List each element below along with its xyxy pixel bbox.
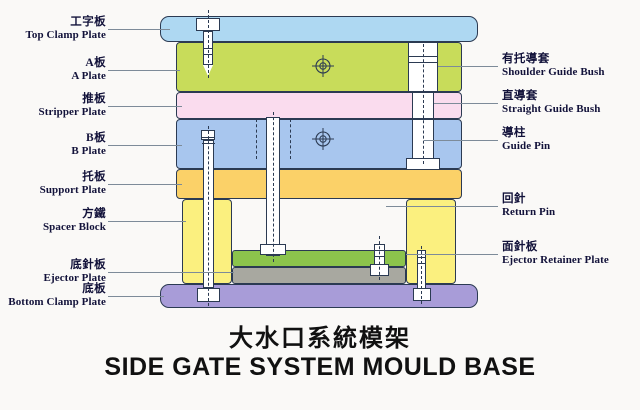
label-top-clamp-plate: 工字板 Top Clamp Plate [25,16,106,41]
label-guide-pin: 導柱 Guide Pin [502,127,550,152]
label-straight-guide-bush-cn: 直導套 [502,90,600,103]
datum-mark-b-plate [312,128,334,150]
label-b-plate-cn: B板 [71,132,106,145]
label-support-plate-cn: 托板 [40,171,106,184]
label-top-clamp-plate-cn: 工字板 [25,16,106,29]
label-a-plate-cn: A板 [71,57,106,70]
label-return-pin: 回針 Return Pin [502,193,555,218]
leader-ejector-plate [108,272,234,273]
leader-straight-guide-bush [434,103,498,104]
label-support-plate-en: Support Plate [40,184,106,196]
label-straight-guide-bush-en: Straight Guide Bush [502,103,600,115]
label-spacer-block-cn: 方鐵 [43,208,106,221]
label-ejector-retainer-plate-cn: 面針板 [502,241,609,254]
label-stripper-plate: 推板 Stripper Plate [39,93,107,118]
part-support-plate [176,169,462,199]
leader-spacer-block [108,221,186,222]
label-support-plate: 托板 Support Plate [40,171,106,196]
leader-support-plate [108,184,182,185]
label-ejector-retainer-plate-en: Ejector Retainer Plate [502,254,609,266]
label-ejector-plate-cn: 底針板 [44,259,106,272]
diagram-title: 大水口系統模架 SIDE GATE SYSTEM MOULD BASE [0,318,640,382]
label-guide-pin-cn: 導柱 [502,127,550,140]
label-b-plate: B板 B Plate [71,132,106,157]
title-english: SIDE GATE SYSTEM MOULD BASE [0,353,640,382]
leader-b-plate [108,145,182,146]
leader-bottom-clamp-plate [108,296,164,297]
datum-mark-a-plate [312,55,334,77]
label-return-pin-en: Return Pin [502,206,555,218]
leader-top-clamp-plate [108,29,170,30]
label-shoulder-guide-bush-cn: 有托導套 [502,53,605,66]
diagram-canvas: 工字板 Top Clamp Plate A板 A Plate 推板 Stripp… [0,0,640,410]
guide-pin-axis [423,44,424,164]
part-spacer-block-right [406,199,456,284]
top-screw-axis [208,10,209,78]
leader-shoulder-guide-bush [438,66,498,67]
label-return-pin-cn: 回針 [502,193,555,206]
title-chinese: 大水口系統模架 [0,318,640,353]
label-bottom-clamp-plate: 底板 Bottom Clamp Plate [8,283,106,308]
label-a-plate-en: A Plate [71,70,106,82]
label-stripper-plate-cn: 推板 [39,93,107,106]
label-spacer-block: 方鐵 Spacer Block [43,208,106,233]
label-guide-pin-en: Guide Pin [502,140,550,152]
label-bottom-clamp-plate-cn: 底板 [8,283,106,296]
hidden-edge-left [256,119,257,159]
hidden-edge-right [290,119,291,159]
label-shoulder-guide-bush: 有托導套 Shoulder Guide Bush [502,53,605,78]
label-b-plate-en: B Plate [71,145,106,157]
label-stripper-plate-en: Stripper Plate [39,106,107,118]
leader-ejector-retainer-plate [406,254,498,255]
label-top-clamp-plate-en: Top Clamp Plate [25,29,106,41]
part-retainer-screw-head [413,288,431,301]
leader-stripper-plate [108,106,182,107]
label-ejector-plate: 底針板 Ejector Plate [44,259,106,284]
label-ejector-retainer-plate: 面針板 Ejector Retainer Plate [502,241,609,266]
label-straight-guide-bush: 直導套 Straight Guide Bush [502,90,600,115]
label-bottom-clamp-plate-en: Bottom Clamp Plate [8,296,106,308]
label-shoulder-guide-bush-en: Shoulder Guide Bush [502,66,605,78]
leader-return-pin [386,206,498,207]
leader-guide-pin [424,140,498,141]
return-pin-axis [379,236,380,280]
label-a-plate: A板 A Plate [71,57,106,82]
leader-a-plate [108,70,180,71]
label-spacer-block-en: Spacer Block [43,221,106,233]
center-sleeve-axis [273,112,274,262]
ejector-pin-axis [208,126,209,306]
